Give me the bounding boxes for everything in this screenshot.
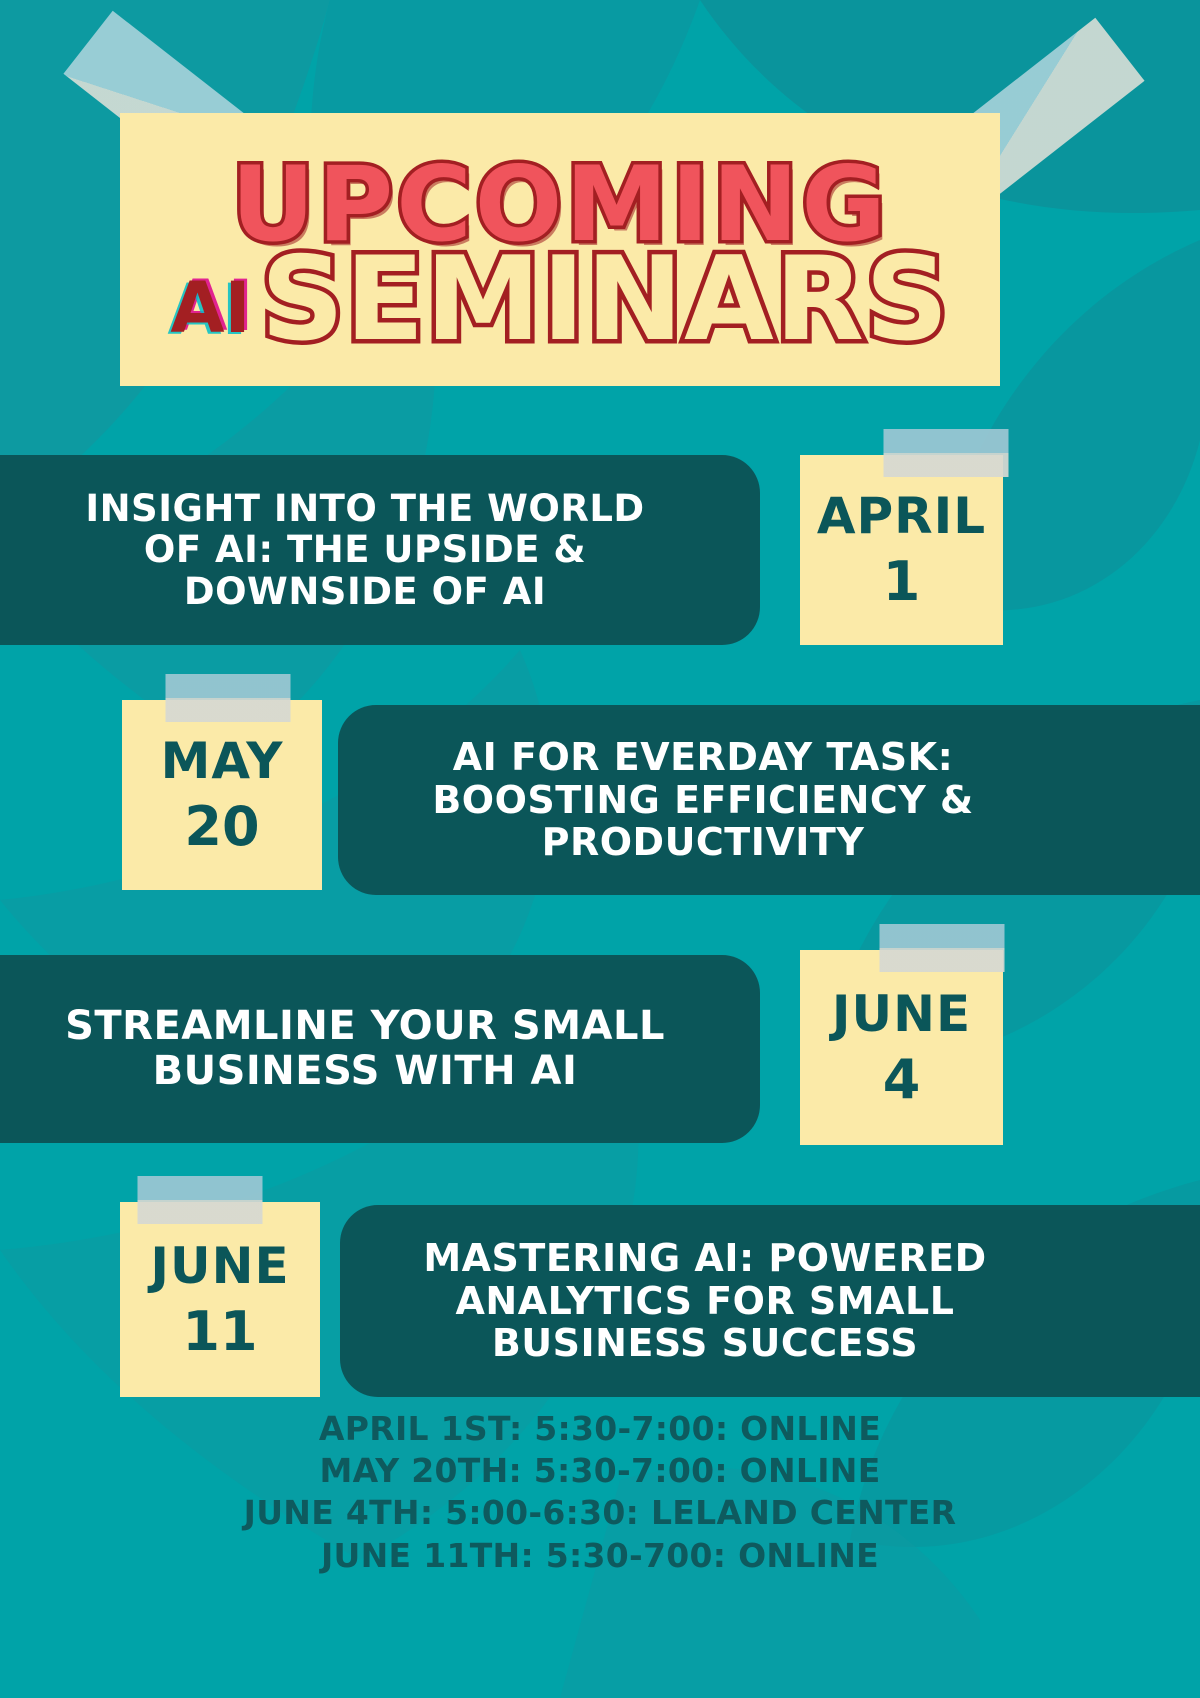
- schedule-line: MAY 20TH: 5:30-7:00: ONLINE: [0, 1450, 1200, 1492]
- seminar-title-line: PRODUCTIVITY: [406, 821, 999, 864]
- card-tape-icon: [884, 429, 1009, 477]
- seminar-title-line: BUSINESS WITH AI: [39, 1049, 691, 1094]
- seminar-title-line: BOOSTING EFFICIENCY &: [406, 779, 999, 822]
- title-line-seminars: SEMINARS: [261, 245, 950, 355]
- card-tape-icon: [880, 924, 1005, 972]
- schedule-footer: APRIL 1ST: 5:30-7:00: ONLINE MAY 20TH: 5…: [0, 1408, 1200, 1577]
- seminar-title-line: MASTERING AI: POWERED: [397, 1237, 1012, 1280]
- seminar-title-line: OF AI: THE UPSIDE &: [59, 529, 670, 570]
- date-card-day: 11: [182, 1305, 257, 1359]
- seminar-title-banner: STREAMLINE YOUR SMALL BUSINESS WITH AI: [0, 955, 760, 1143]
- seminar-title-banner: AI FOR EVERDAY TASK: BOOSTING EFFICIENCY…: [338, 705, 1200, 895]
- seminar-title-line: ANALYTICS FOR SMALL: [397, 1280, 1012, 1323]
- date-card-month: JUNE: [150, 1241, 289, 1291]
- seminar-title-line: INSIGHT INTO THE WORLD: [59, 488, 670, 529]
- seminar-date-card: JUNE 4: [800, 950, 1003, 1145]
- poster-title-card: UPCOMING AI SEMINARS: [120, 113, 1000, 386]
- date-card-month: APRIL: [817, 491, 986, 541]
- seminar-title-line: BUSINESS SUCCESS: [397, 1322, 1012, 1365]
- date-card-month: MAY: [161, 736, 284, 786]
- date-card-month: JUNE: [832, 989, 971, 1039]
- date-card-day: 1: [883, 555, 921, 609]
- date-card-day: 4: [883, 1053, 921, 1107]
- schedule-line: JUNE 11TH: 5:30-700: ONLINE: [0, 1535, 1200, 1577]
- card-tape-icon: [138, 1176, 263, 1224]
- seminar-date-card: JUNE 11: [120, 1202, 320, 1397]
- seminar-title-line: STREAMLINE YOUR SMALL: [39, 1004, 691, 1049]
- card-tape-icon: [166, 674, 291, 722]
- seminar-date-card: APRIL 1: [800, 455, 1003, 645]
- schedule-line: APRIL 1ST: 5:30-7:00: ONLINE: [0, 1408, 1200, 1450]
- seminar-title-banner: MASTERING AI: POWERED ANALYTICS FOR SMAL…: [340, 1205, 1200, 1397]
- schedule-line: JUNE 4TH: 5:00-6:30: LELAND CENTER: [0, 1492, 1200, 1534]
- poster-canvas: UPCOMING AI SEMINARS INSIGHT INTO THE WO…: [0, 0, 1200, 1698]
- seminar-title-line: AI FOR EVERDAY TASK:: [406, 736, 999, 779]
- seminar-title-banner: INSIGHT INTO THE WORLD OF AI: THE UPSIDE…: [0, 455, 760, 645]
- date-card-day: 20: [184, 800, 259, 854]
- title-ai-accent: AI: [170, 273, 250, 343]
- seminar-date-card: MAY 20: [122, 700, 322, 890]
- seminar-title-line: DOWNSIDE OF AI: [59, 571, 670, 612]
